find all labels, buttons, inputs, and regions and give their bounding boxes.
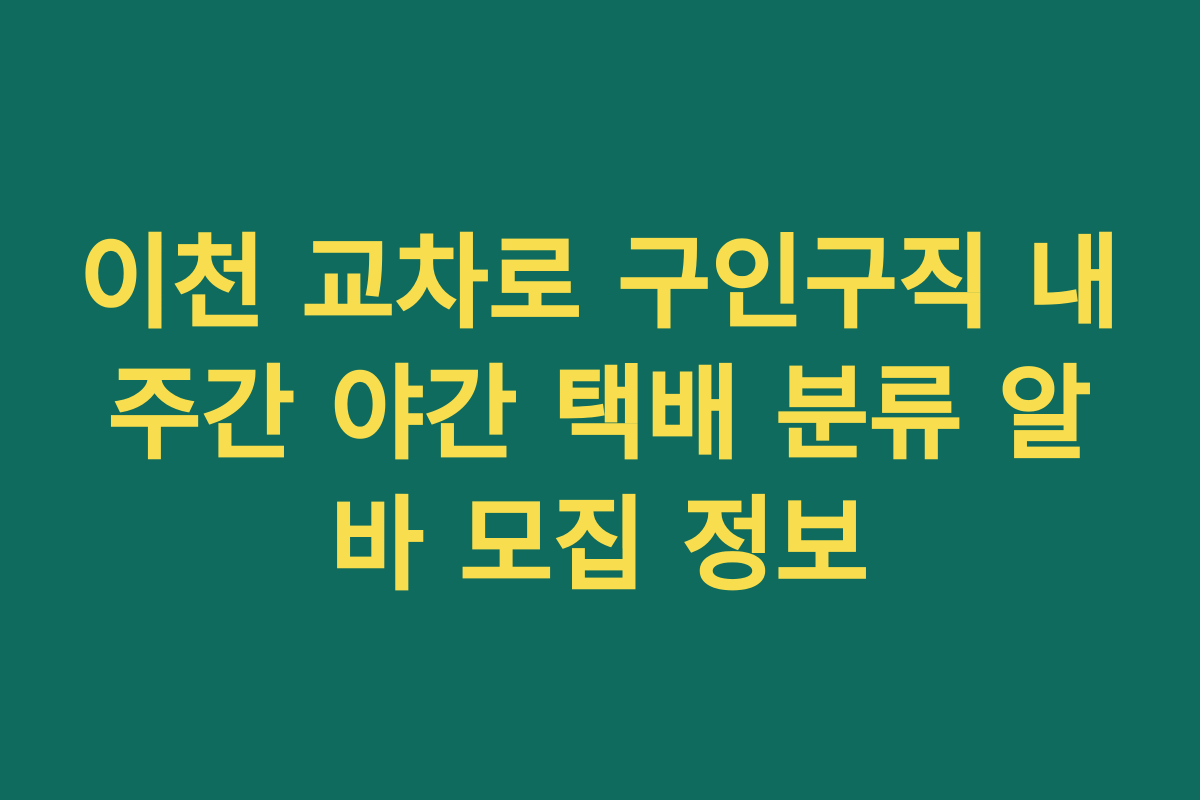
title-line-2: 주간 야간 택배 분류 알	[70, 349, 1130, 480]
title-line-1: 이천 교차로 구인구직 내	[70, 218, 1130, 349]
title-line-3: 바 모집 정보	[70, 480, 1130, 611]
page-title: 이천 교차로 구인구직 내 주간 야간 택배 분류 알 바 모집 정보	[70, 218, 1130, 611]
title-banner: 이천 교차로 구인구직 내 주간 야간 택배 분류 알 바 모집 정보 이천 교…	[0, 0, 1200, 800]
